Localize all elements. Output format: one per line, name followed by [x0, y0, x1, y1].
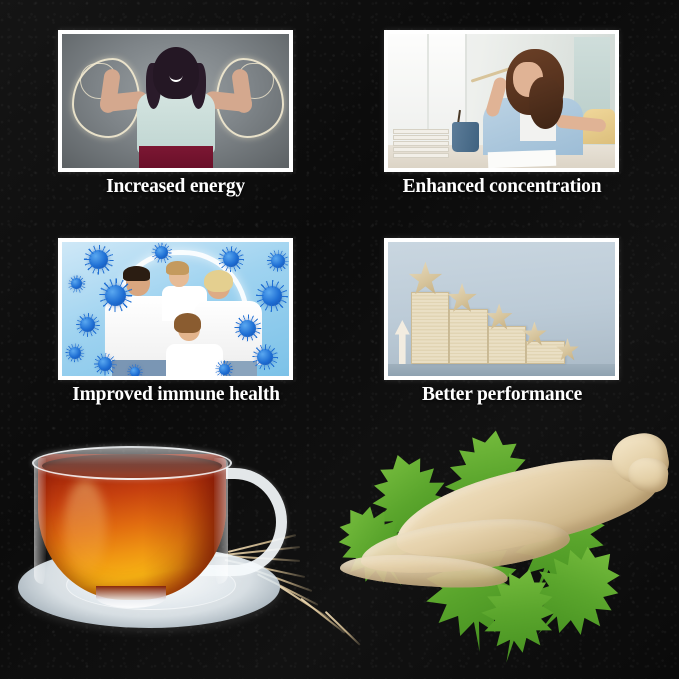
virus-icon	[89, 250, 108, 269]
virus-icon	[271, 254, 285, 268]
virus-icon	[130, 367, 140, 376]
blue-mug	[452, 122, 479, 151]
virus-icon	[262, 286, 282, 306]
wooden-block	[449, 309, 488, 364]
table-surface	[388, 364, 615, 376]
virus-icon	[239, 320, 256, 337]
up-arrow-icon	[395, 320, 410, 364]
skirt	[139, 146, 213, 168]
glass-highlight-left	[34, 458, 46, 584]
ginseng-tendril	[300, 598, 345, 634]
tea-highlight	[64, 480, 105, 573]
child-two-hair	[174, 313, 201, 333]
photo-increased-energy	[62, 34, 289, 168]
photo-better-performance	[388, 242, 615, 376]
virus-icon	[223, 251, 239, 267]
wooden-block	[411, 292, 450, 364]
virus-icon	[105, 285, 126, 306]
benefit-card-increased-energy: Increased energy	[58, 30, 293, 172]
mother-hair	[204, 270, 233, 292]
virus-icon	[71, 278, 82, 289]
child-one-hair	[166, 261, 189, 275]
virus-icon	[219, 364, 230, 375]
virus-icon	[69, 347, 81, 359]
wooden-star-icon	[408, 262, 442, 296]
book-stack	[393, 129, 450, 152]
benefit-label-better-performance: Better performance	[352, 384, 652, 406]
wooden-block	[488, 326, 527, 364]
photo-frame	[384, 238, 619, 380]
photo-improved-immune-health	[62, 242, 289, 376]
benefit-label-increased-energy: Increased energy	[58, 176, 293, 198]
virus-icon	[155, 246, 168, 259]
cup-base	[96, 586, 166, 608]
photo-frame	[384, 30, 619, 172]
virus-icon	[80, 317, 95, 332]
glass-highlight-right	[214, 458, 228, 584]
photo-frame	[58, 238, 293, 380]
photo-frame	[58, 30, 293, 172]
window-mullion	[427, 34, 429, 133]
father-hair	[123, 266, 150, 281]
benefit-label-enhanced-concentration: Enhanced concentration	[352, 176, 652, 198]
hero-ginseng-tea	[0, 418, 679, 679]
paper-sheet	[488, 149, 557, 167]
benefit-label-improved-immune-health: Improved immune health	[26, 384, 326, 406]
virus-icon	[257, 349, 273, 365]
wooden-block	[526, 341, 565, 364]
infographic-canvas: Increased energy	[0, 0, 679, 679]
hair-strand	[529, 77, 563, 129]
ginseng-tendril	[325, 611, 361, 646]
benefit-card-improved-immune-health: Improved immune health	[58, 238, 293, 380]
cup-rim	[32, 446, 232, 480]
benefit-card-better-performance: Better performance	[384, 238, 619, 380]
virus-icon	[98, 357, 112, 371]
photo-enhanced-concentration	[388, 34, 615, 168]
benefit-card-enhanced-concentration: Enhanced concentration	[384, 30, 619, 172]
